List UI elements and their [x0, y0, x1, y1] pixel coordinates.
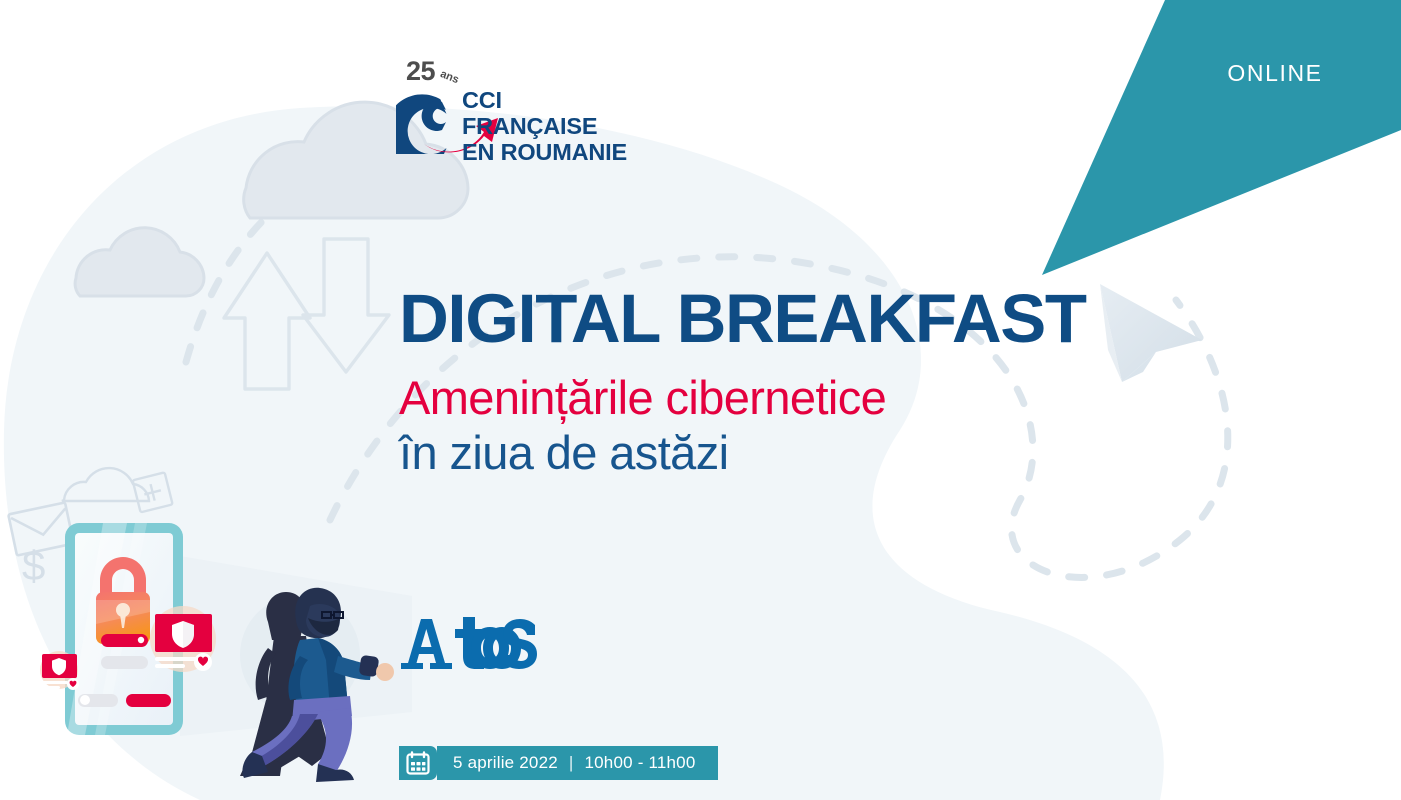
atos-logo — [399, 611, 539, 671]
phone-input-row-empty — [101, 656, 148, 669]
phone-submit-button — [126, 694, 171, 707]
online-banner-label: ONLINE — [1190, 60, 1360, 87]
page-title: DIGITAL BREAKFAST — [399, 282, 1099, 356]
cci-logo: 25 ans CCI FRANÇAISE EN ROUMANIE — [396, 56, 636, 154]
event-time: 10h00 - 11h00 — [585, 753, 696, 773]
subtitle-line-2: în ziua de astăzi — [399, 425, 1099, 480]
page-subtitle: Amenințările cibernetice în ziua de astă… — [399, 356, 1099, 480]
shield-card-small — [40, 651, 79, 690]
online-banner — [1030, 0, 1401, 290]
calendar-icon — [406, 751, 430, 775]
event-datetime-text: 5 aprilie 2022 | 10h00 - 11h00 — [437, 746, 718, 780]
event-date: 5 aprilie 2022 — [453, 753, 558, 773]
calendar-icon-container — [399, 746, 437, 780]
logo-anniversary-number: 25 — [406, 56, 435, 87]
event-datetime-bar: 5 aprilie 2022 | 10h00 - 11h00 — [399, 746, 718, 780]
subtitle-line-1: Amenințările cibernetice — [399, 370, 1099, 425]
dollar-sign-icon: $ — [22, 542, 45, 589]
paper-plane-icon — [1100, 284, 1202, 382]
headline-block: DIGITAL BREAKFAST Amenințările ciberneti… — [399, 282, 1099, 480]
event-separator: | — [558, 753, 585, 773]
shield-card-large — [150, 606, 216, 672]
event-poster: $ — [0, 0, 1401, 800]
logo-name: CCI FRANÇAISE EN ROUMANIE — [462, 87, 636, 165]
online-banner-shape — [1042, 0, 1401, 275]
